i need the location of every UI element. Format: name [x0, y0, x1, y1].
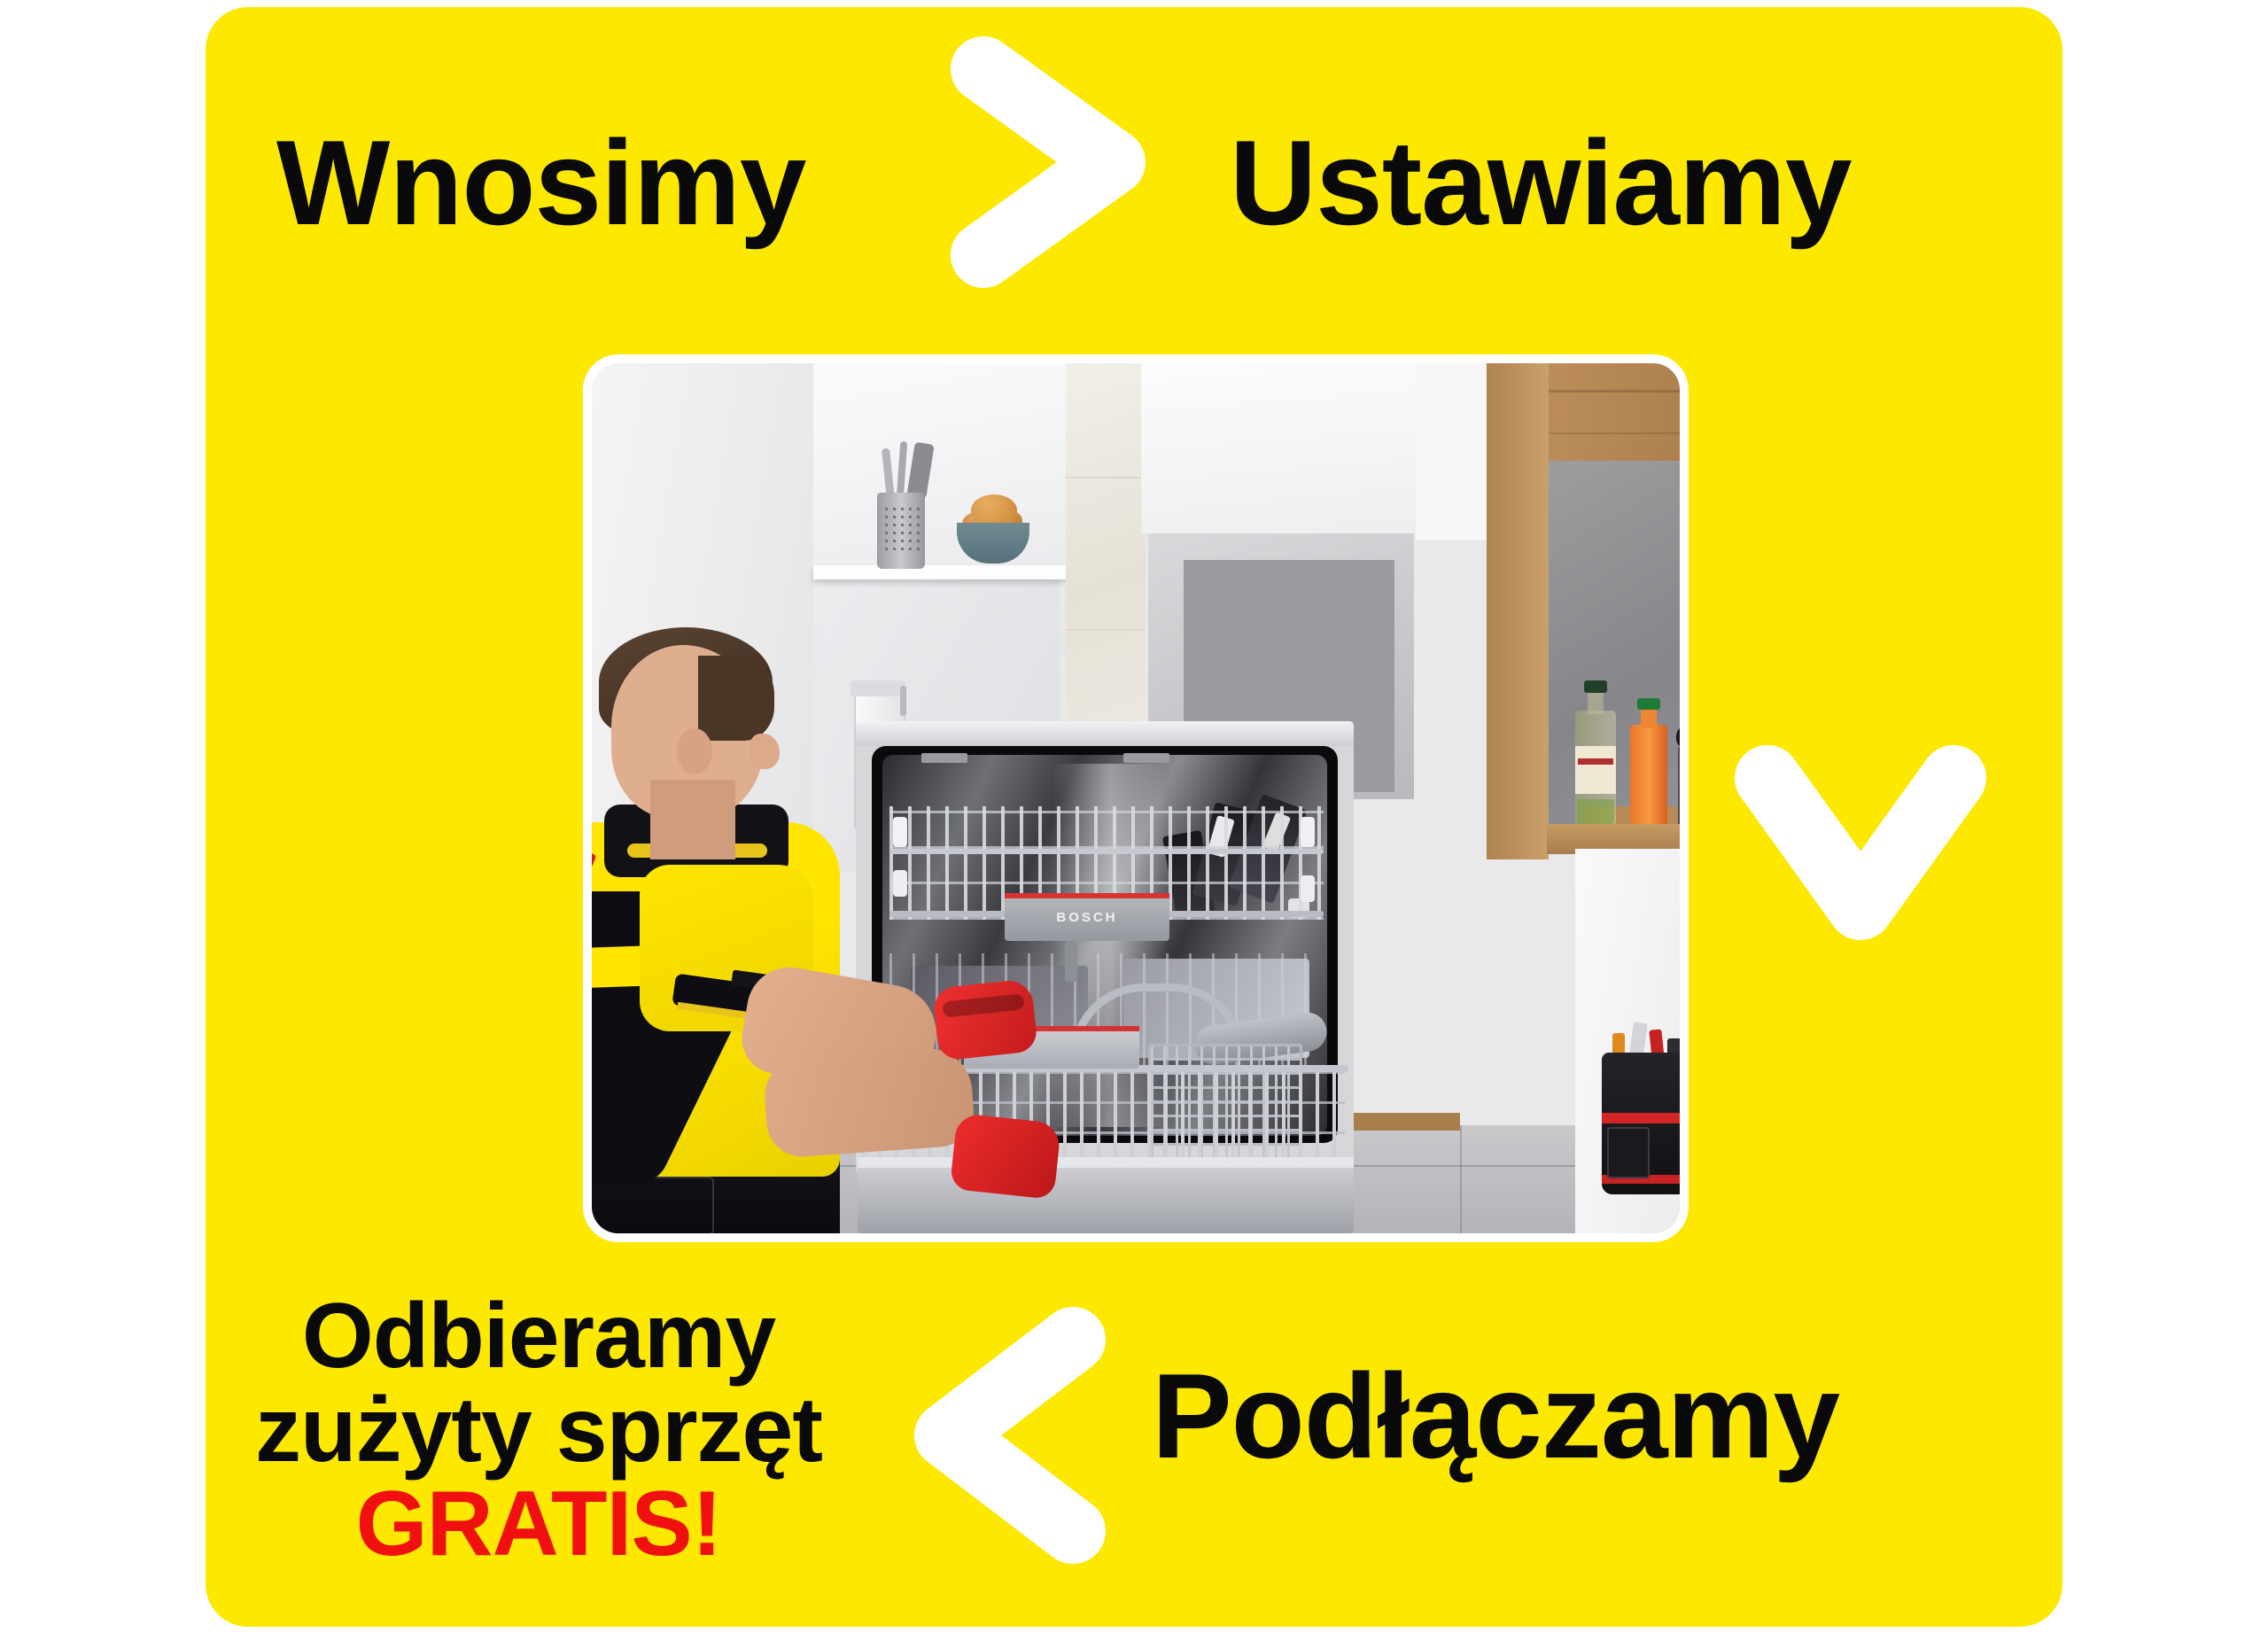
kitchen-tile-seam [1066, 629, 1146, 631]
pasta-jar-lid [850, 680, 905, 696]
rack-end-cap [893, 817, 907, 847]
tool-bag-pocket [1607, 1127, 1650, 1178]
tool-bag-strap [1602, 1113, 1680, 1123]
bread-roll [971, 494, 1017, 526]
oil-bottle-neck [1588, 689, 1604, 714]
bosch-brand-label: BOSCH [1005, 910, 1169, 925]
dishwasher-open-door [858, 1157, 1354, 1233]
rack-end-cap [1301, 817, 1315, 847]
upper-rack-bar [889, 849, 1324, 854]
dishwasher-top-rail [856, 721, 1354, 746]
technician-1-neck [650, 780, 735, 859]
juice-bottle-cap [1637, 698, 1660, 710]
dishwasher-badge [1123, 753, 1169, 763]
technician-1-trouser-pocket [592, 1177, 714, 1233]
headline-step-4-line-2: zużyty sprzęt [202, 1383, 875, 1477]
oil-bottle-label-band [1578, 758, 1613, 765]
technician-1-forearm [762, 1046, 975, 1159]
technician-1-ear [677, 728, 712, 774]
technician-1-hair-side [698, 656, 774, 741]
headline-step-4: Odbieramy zużyty sprzęt GRATIS! [202, 1289, 875, 1571]
dishwasher-door-lip [858, 1157, 1354, 1168]
rack-end-cap [1301, 875, 1315, 902]
kitchen-shelf-plank [813, 565, 1066, 579]
juice-bottle [1630, 725, 1667, 826]
installation-photo: expert [592, 363, 1680, 1233]
bosch-tray-red-accent [1005, 893, 1169, 898]
pepper-grinder [1678, 746, 1680, 826]
kitchen-wood-post-left [1487, 363, 1549, 859]
kitchen-upper-cabinet [1141, 363, 1416, 533]
utensil-holder-perforation [882, 505, 920, 555]
technician-1-right-glove [932, 978, 1038, 1061]
headline-step-3: Podłączamy [1152, 1356, 1839, 1476]
headline-step-2: Ustawiamy [1230, 122, 1852, 243]
dishwasher-badge [921, 753, 967, 763]
chevron-left-icon [908, 1302, 1112, 1568]
bosch-tray-stem [1065, 941, 1077, 982]
kitchen-tile-seam [1066, 477, 1146, 478]
headline-step-4-line-1: Odbieramy [202, 1289, 875, 1383]
pasta-jar-clip [900, 686, 906, 716]
floor-tile-seam [1460, 1125, 1462, 1233]
headline-step-4-line-3-gratis: GRATIS! [202, 1477, 875, 1571]
oil-bottle-label [1575, 746, 1616, 794]
headline-step-1: Wnosimy [276, 122, 806, 243]
chevron-right-icon [948, 34, 1152, 291]
oil-bottle-contents [1577, 799, 1614, 824]
juice-bottle-neck [1641, 707, 1657, 728]
technician-1-left-glove [950, 1113, 1061, 1200]
oil-bottle-cap [1584, 680, 1607, 693]
poster-canvas: Wnosimy Ustawiamy Podłączamy Odbieramy z… [0, 0, 2268, 1648]
rack-end-cap [893, 870, 907, 897]
technician-1-nose [750, 734, 780, 769]
chevron-down-icon [1732, 742, 1989, 946]
